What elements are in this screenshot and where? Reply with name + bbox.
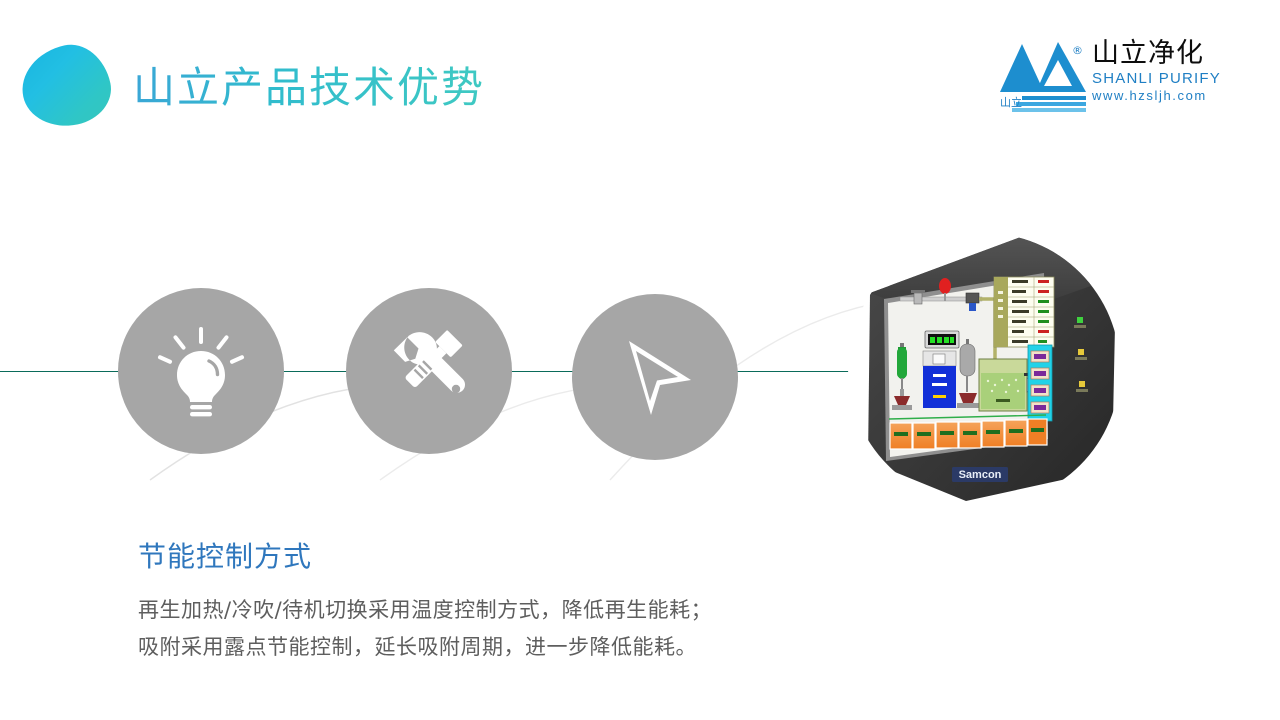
- device-brand-badge: Samcon: [952, 467, 1008, 482]
- body-line-1: 再生加热/冷吹/待机切换采用温度控制方式，降低再生能耗；: [138, 592, 898, 629]
- wrench-screwdriver-icon: [377, 319, 481, 423]
- body-line-2: 吸附采用露点节能控制，延长吸附周期，进一步降低能耗。: [138, 629, 898, 666]
- sidebar-item-step-2[interactable]: [346, 288, 512, 454]
- logo-name-cn: 山立净化: [1092, 38, 1222, 70]
- hmi-device-photo: Samcon: [848, 233, 1120, 505]
- svg-text:Samcon: Samcon: [959, 469, 1002, 481]
- section-heading: 节能控制方式: [138, 538, 312, 576]
- sidebar-item-step-3[interactable]: [572, 294, 738, 460]
- blob-icon: [15, 38, 118, 135]
- lightbulb-icon: [149, 319, 253, 423]
- hmi-panel-illustration: Samcon: [848, 233, 1120, 505]
- sidebar-item-step-1[interactable]: [118, 288, 284, 454]
- slide-root: 山立产品技术优势 ® 山立 山立净化 SHANLI PURIFY www.hzs…: [0, 0, 1280, 720]
- page-title: 山立产品技术优势: [133, 58, 485, 118]
- registered-trademark-icon: ®: [1072, 44, 1083, 57]
- logo-name-en: SHANLI PURIFY: [1092, 70, 1222, 88]
- cursor-arrow-icon: [603, 325, 707, 429]
- logo-text-block: 山立净化 SHANLI PURIFY www.hzsljh.com: [1092, 38, 1222, 104]
- logo-website: www.hzsljh.com: [1092, 88, 1222, 104]
- body-text-block: 再生加热/冷吹/待机切换采用温度控制方式，降低再生能耗； 吸附采用露点节能控制，…: [138, 592, 898, 666]
- company-logo: ® 山立 山立净化 SHANLI PURIFY www.hzsljh.com: [1000, 36, 1220, 118]
- logo-mark-caption: 山立: [1000, 94, 1022, 110]
